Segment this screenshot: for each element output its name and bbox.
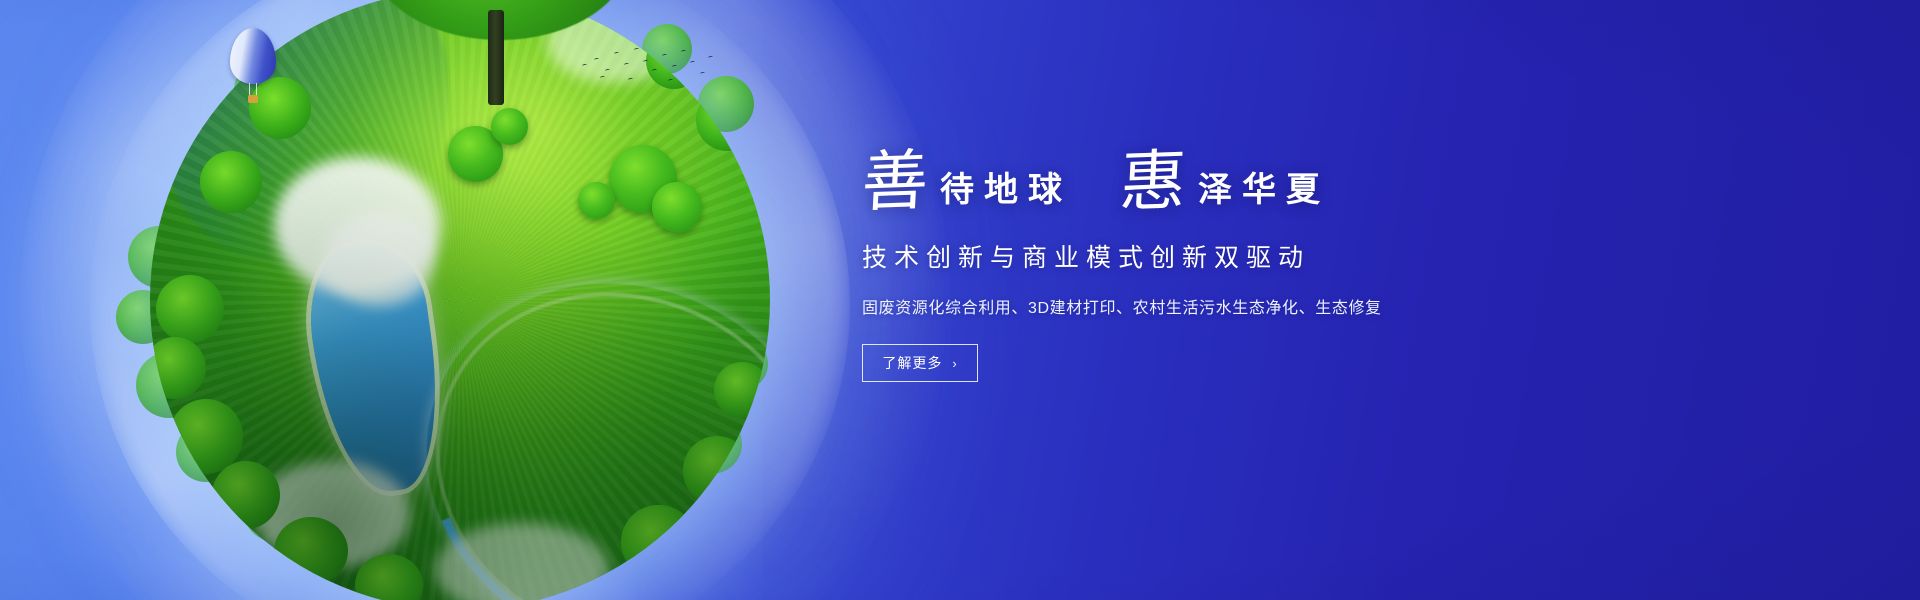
bird-icon xyxy=(681,50,687,54)
hero-description: 固废资源化综合利用、3D建材打印、农村生活污水生态净化、生态修复 xyxy=(862,294,1842,318)
headline-brush-1: 善 xyxy=(860,149,931,215)
bird-icon xyxy=(700,72,706,76)
bird-icon xyxy=(662,54,668,58)
chevron-right-icon: › xyxy=(952,357,957,370)
learn-more-label: 了解更多 xyxy=(882,353,942,373)
bird-icon xyxy=(594,58,600,62)
balloon-envelope xyxy=(230,28,276,84)
bird-icon xyxy=(600,76,606,80)
learn-more-button[interactable]: 了解更多 › xyxy=(862,344,978,382)
bird-icon xyxy=(690,61,696,65)
bird-flock-icon xyxy=(580,42,720,92)
bird-icon xyxy=(605,69,611,73)
bird-icon xyxy=(652,69,658,73)
headline-rest-1: 待地球 xyxy=(930,174,1072,214)
bird-icon xyxy=(624,63,630,67)
bird-icon xyxy=(643,60,649,64)
balloon-basket xyxy=(248,95,258,103)
headline-rest-2: 泽华夏 xyxy=(1188,174,1330,214)
bird-icon xyxy=(708,56,714,60)
page-title: 善 待地球 惠 泽华夏 xyxy=(862,130,1842,214)
hero-copy: 善 待地球 惠 泽华夏 技术创新与商业模式创新双驱动 固废资源化综合利用、3D建… xyxy=(862,130,1842,382)
bird-icon xyxy=(582,64,588,68)
bird-icon xyxy=(628,78,634,82)
hero-banner: 善 待地球 惠 泽华夏 技术创新与商业模式创新双驱动 固废资源化综合利用、3D建… xyxy=(0,0,1920,600)
bird-icon xyxy=(668,79,674,83)
bird-icon xyxy=(634,48,640,52)
headline-brush-2: 惠 xyxy=(1118,149,1189,215)
bird-icon xyxy=(614,52,620,56)
tree-trunk xyxy=(488,10,504,105)
bird-icon xyxy=(672,65,678,69)
hero-subtitle: 技术创新与商业模式创新双驱动 xyxy=(862,238,1842,274)
hot-air-balloon-icon xyxy=(230,28,278,108)
